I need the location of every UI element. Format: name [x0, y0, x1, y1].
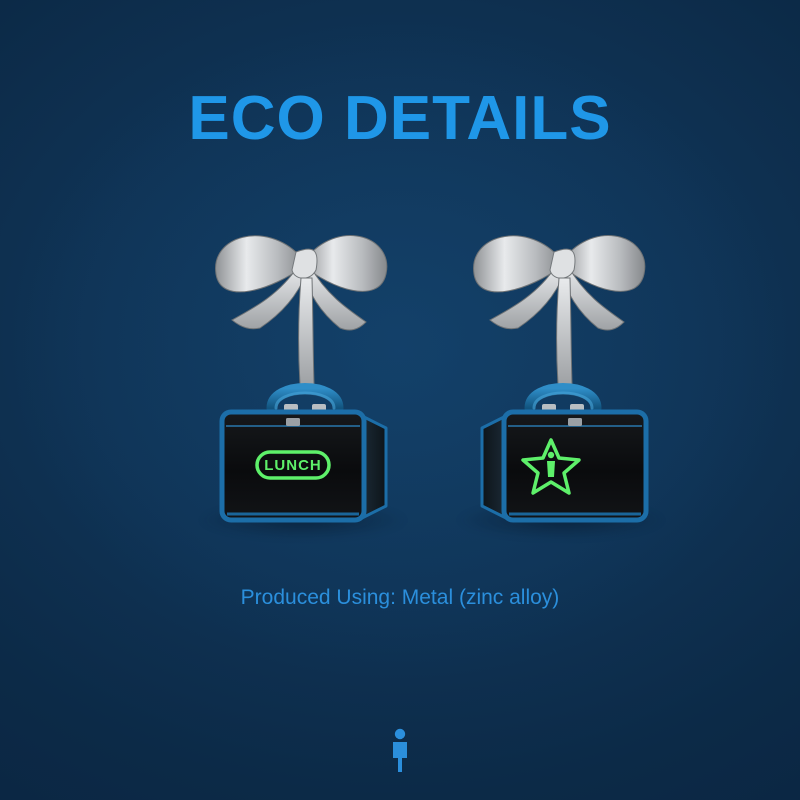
- art-label-left: LUNCH: [264, 457, 322, 474]
- lunchbox-case-left: LUNCH: [180, 364, 430, 544]
- page-title: ECO DETAILS: [0, 88, 800, 150]
- product-photo-scene: ECO DETAILS: [0, 0, 800, 800]
- product-lunchbox-ornament-lunch: LUNCH: [180, 212, 430, 552]
- product-lunchbox-ornament-star: [438, 212, 688, 552]
- blohsh-figure-logo: [385, 728, 415, 772]
- lunchbox-case-right: [438, 364, 688, 544]
- product-caption: Produced Using: Metal (zinc alloy): [0, 586, 800, 610]
